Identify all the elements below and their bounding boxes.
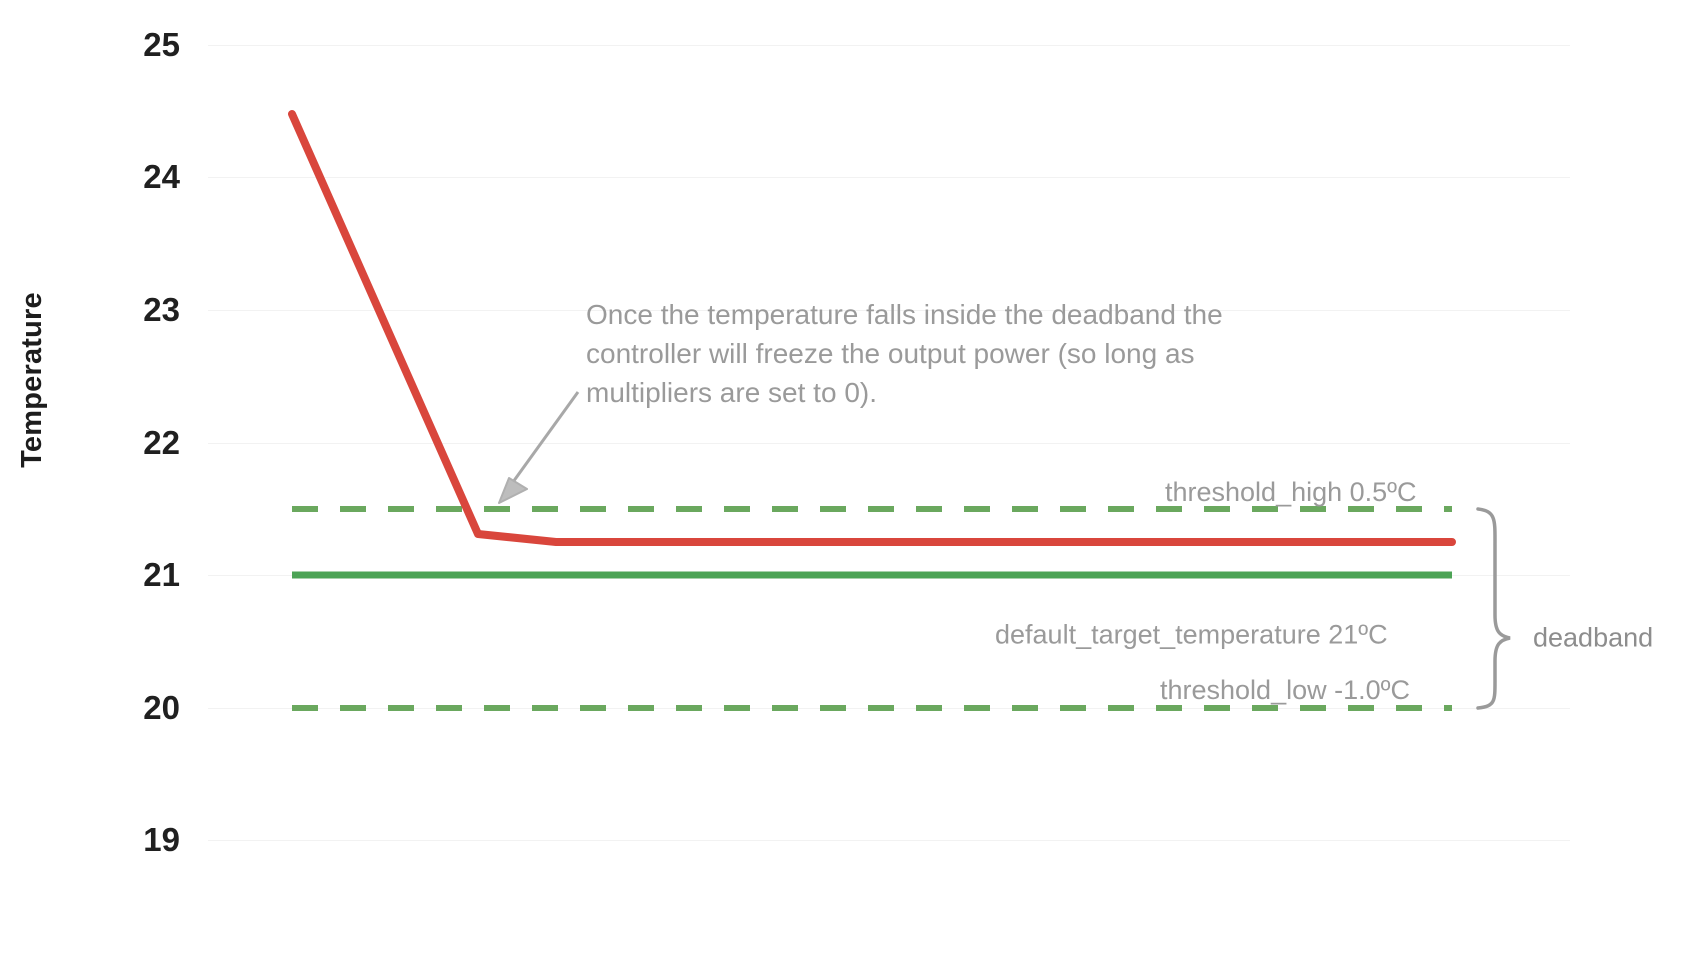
annotation-line-1: Once the temperature falls inside the de… — [586, 295, 1316, 334]
chart-canvas: Temperature 25 24 23 22 21 20 19 — [0, 0, 1700, 960]
y-tick-label: 23 — [100, 291, 180, 329]
gridline-20 — [208, 708, 1570, 709]
gridline-24 — [208, 177, 1570, 178]
y-axis-title: Temperature — [16, 280, 49, 480]
threshold-low-label: threshold_low -1.0ºC — [1160, 675, 1410, 706]
y-tick-label: 22 — [100, 424, 180, 462]
gridline-22 — [208, 443, 1570, 444]
annotation-line-3: multipliers are set to 0). — [586, 373, 1316, 412]
y-tick-label: 19 — [100, 821, 180, 859]
deadband-brace — [1478, 509, 1510, 708]
gridline-19 — [208, 840, 1570, 841]
plot-area — [0, 0, 1700, 960]
threshold-high-label: threshold_high 0.5ºC — [1165, 477, 1417, 508]
annotation-line-2: controller will freeze the output power … — [586, 334, 1316, 373]
gridline-21 — [208, 575, 1570, 576]
gridline-25 — [208, 45, 1570, 46]
annotation-arrow — [499, 392, 578, 503]
y-axis-tick-labels: 25 24 23 22 21 20 19 — [100, 0, 180, 960]
y-tick-label: 20 — [100, 689, 180, 727]
y-tick-label: 24 — [100, 158, 180, 196]
deadband-annotation-text: Once the temperature falls inside the de… — [586, 295, 1316, 412]
deadband-label: deadband — [1533, 623, 1653, 654]
y-tick-label: 21 — [100, 556, 180, 594]
y-tick-label: 25 — [100, 26, 180, 64]
default-target-temperature-label: default_target_temperature 21ºC — [995, 620, 1388, 651]
